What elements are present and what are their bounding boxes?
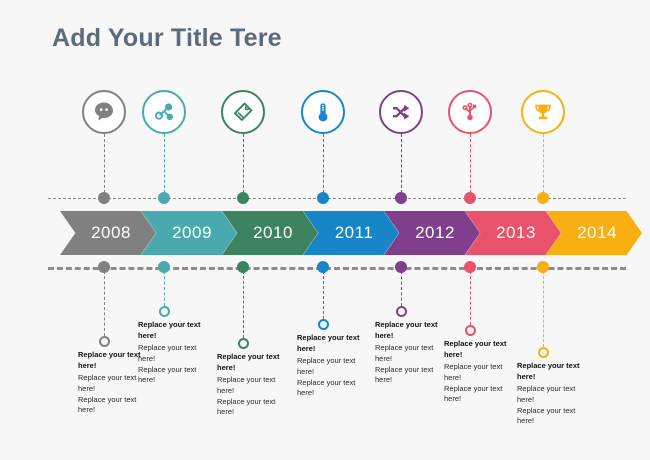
caption-text-block[interactable]: Replace your text here!Replace your text… bbox=[517, 361, 589, 427]
chevron-year-label: 2012 bbox=[409, 223, 455, 243]
rail-dot-top bbox=[537, 192, 549, 204]
caption-body-line: Replace your text here! bbox=[444, 362, 516, 384]
chevron-year-label: 2014 bbox=[571, 223, 617, 243]
timeline-infographic: Add Your Title Tere bbox=[0, 0, 650, 460]
icon-connector-line bbox=[323, 134, 324, 198]
caption-connector-line bbox=[401, 271, 402, 306]
icon-connector-line bbox=[243, 134, 244, 198]
caption-ring-marker bbox=[99, 336, 110, 347]
caption-text-block[interactable]: Replace your text here!Replace your text… bbox=[375, 320, 447, 386]
caption-body-line: Replace your text here! bbox=[138, 343, 210, 365]
caption-body-line: Replace your text here! bbox=[375, 365, 447, 387]
rail-dot-top bbox=[98, 192, 110, 204]
caption-text-block[interactable]: Replace your text here!Replace your text… bbox=[138, 320, 210, 386]
caption-body-line: Replace your text here! bbox=[138, 365, 210, 387]
caption-body-line: Replace your text here! bbox=[375, 343, 447, 365]
page-title: Add Your Title Tere bbox=[52, 24, 282, 53]
caption-ring-marker bbox=[318, 319, 329, 330]
caption-lead-line: Replace your text here! bbox=[375, 320, 447, 342]
chevron-year-label: 2009 bbox=[166, 223, 212, 243]
caption-ring-marker bbox=[465, 325, 476, 336]
icon-connector-line bbox=[470, 134, 471, 198]
caption-connector-line bbox=[323, 271, 324, 319]
caption-connector-line bbox=[104, 271, 105, 336]
caption-ring-marker bbox=[238, 338, 249, 349]
price-tag-icon bbox=[221, 90, 265, 134]
caption-connector-line bbox=[543, 271, 544, 347]
caption-connector-line bbox=[470, 271, 471, 325]
caption-text-block[interactable]: Replace your text here!Replace your text… bbox=[217, 352, 289, 418]
caption-lead-line: Replace your text here! bbox=[444, 339, 516, 361]
caption-body-line: Replace your text here! bbox=[217, 397, 289, 419]
chevron-year-label: 2010 bbox=[247, 223, 293, 243]
caption-body-line: Replace your text here! bbox=[517, 384, 589, 406]
timeline-chevron[interactable]: 2008 bbox=[60, 211, 156, 255]
caption-text-block[interactable]: Replace your text here!Replace your text… bbox=[297, 333, 369, 399]
caption-ring-marker bbox=[159, 306, 170, 317]
usb-connector-icon bbox=[448, 90, 492, 134]
caption-body-line: Replace your text here! bbox=[444, 384, 516, 406]
caption-ring-marker bbox=[396, 306, 407, 317]
share-network-icon bbox=[142, 90, 186, 134]
rail-dot-top bbox=[158, 192, 170, 204]
shuffle-arrows-icon bbox=[379, 90, 423, 134]
icon-connector-line bbox=[401, 134, 402, 198]
caption-lead-line: Replace your text here! bbox=[138, 320, 210, 342]
icon-connector-line bbox=[104, 134, 105, 198]
thermometer-icon bbox=[301, 90, 345, 134]
rail-dot-top bbox=[237, 192, 249, 204]
caption-lead-line: Replace your text here! bbox=[217, 352, 289, 374]
chevron-year-label: 2011 bbox=[329, 223, 374, 243]
caption-connector-line bbox=[164, 271, 165, 306]
caption-body-line: Replace your text here! bbox=[517, 406, 589, 428]
trophy-icon bbox=[521, 90, 565, 134]
caption-body-line: Replace your text here! bbox=[297, 356, 369, 378]
speech-bubble-icon bbox=[82, 90, 126, 134]
caption-text-block[interactable]: Replace your text here!Replace your text… bbox=[444, 339, 516, 405]
chevron-year-label: 2008 bbox=[85, 223, 131, 243]
caption-body-line: Replace your text here! bbox=[78, 395, 150, 417]
rail-dot-top bbox=[395, 192, 407, 204]
caption-connector-line bbox=[243, 271, 244, 338]
caption-lead-line: Replace your text here! bbox=[297, 333, 369, 355]
caption-body-line: Replace your text here! bbox=[297, 378, 369, 400]
icon-connector-line bbox=[164, 134, 165, 198]
caption-ring-marker bbox=[538, 347, 549, 358]
caption-body-line: Replace your text here! bbox=[217, 375, 289, 397]
caption-lead-line: Replace your text here! bbox=[517, 361, 589, 383]
rail-dot-top bbox=[317, 192, 329, 204]
chevron-year-label: 2013 bbox=[490, 223, 536, 243]
icon-connector-line bbox=[543, 134, 544, 198]
rail-dot-top bbox=[464, 192, 476, 204]
